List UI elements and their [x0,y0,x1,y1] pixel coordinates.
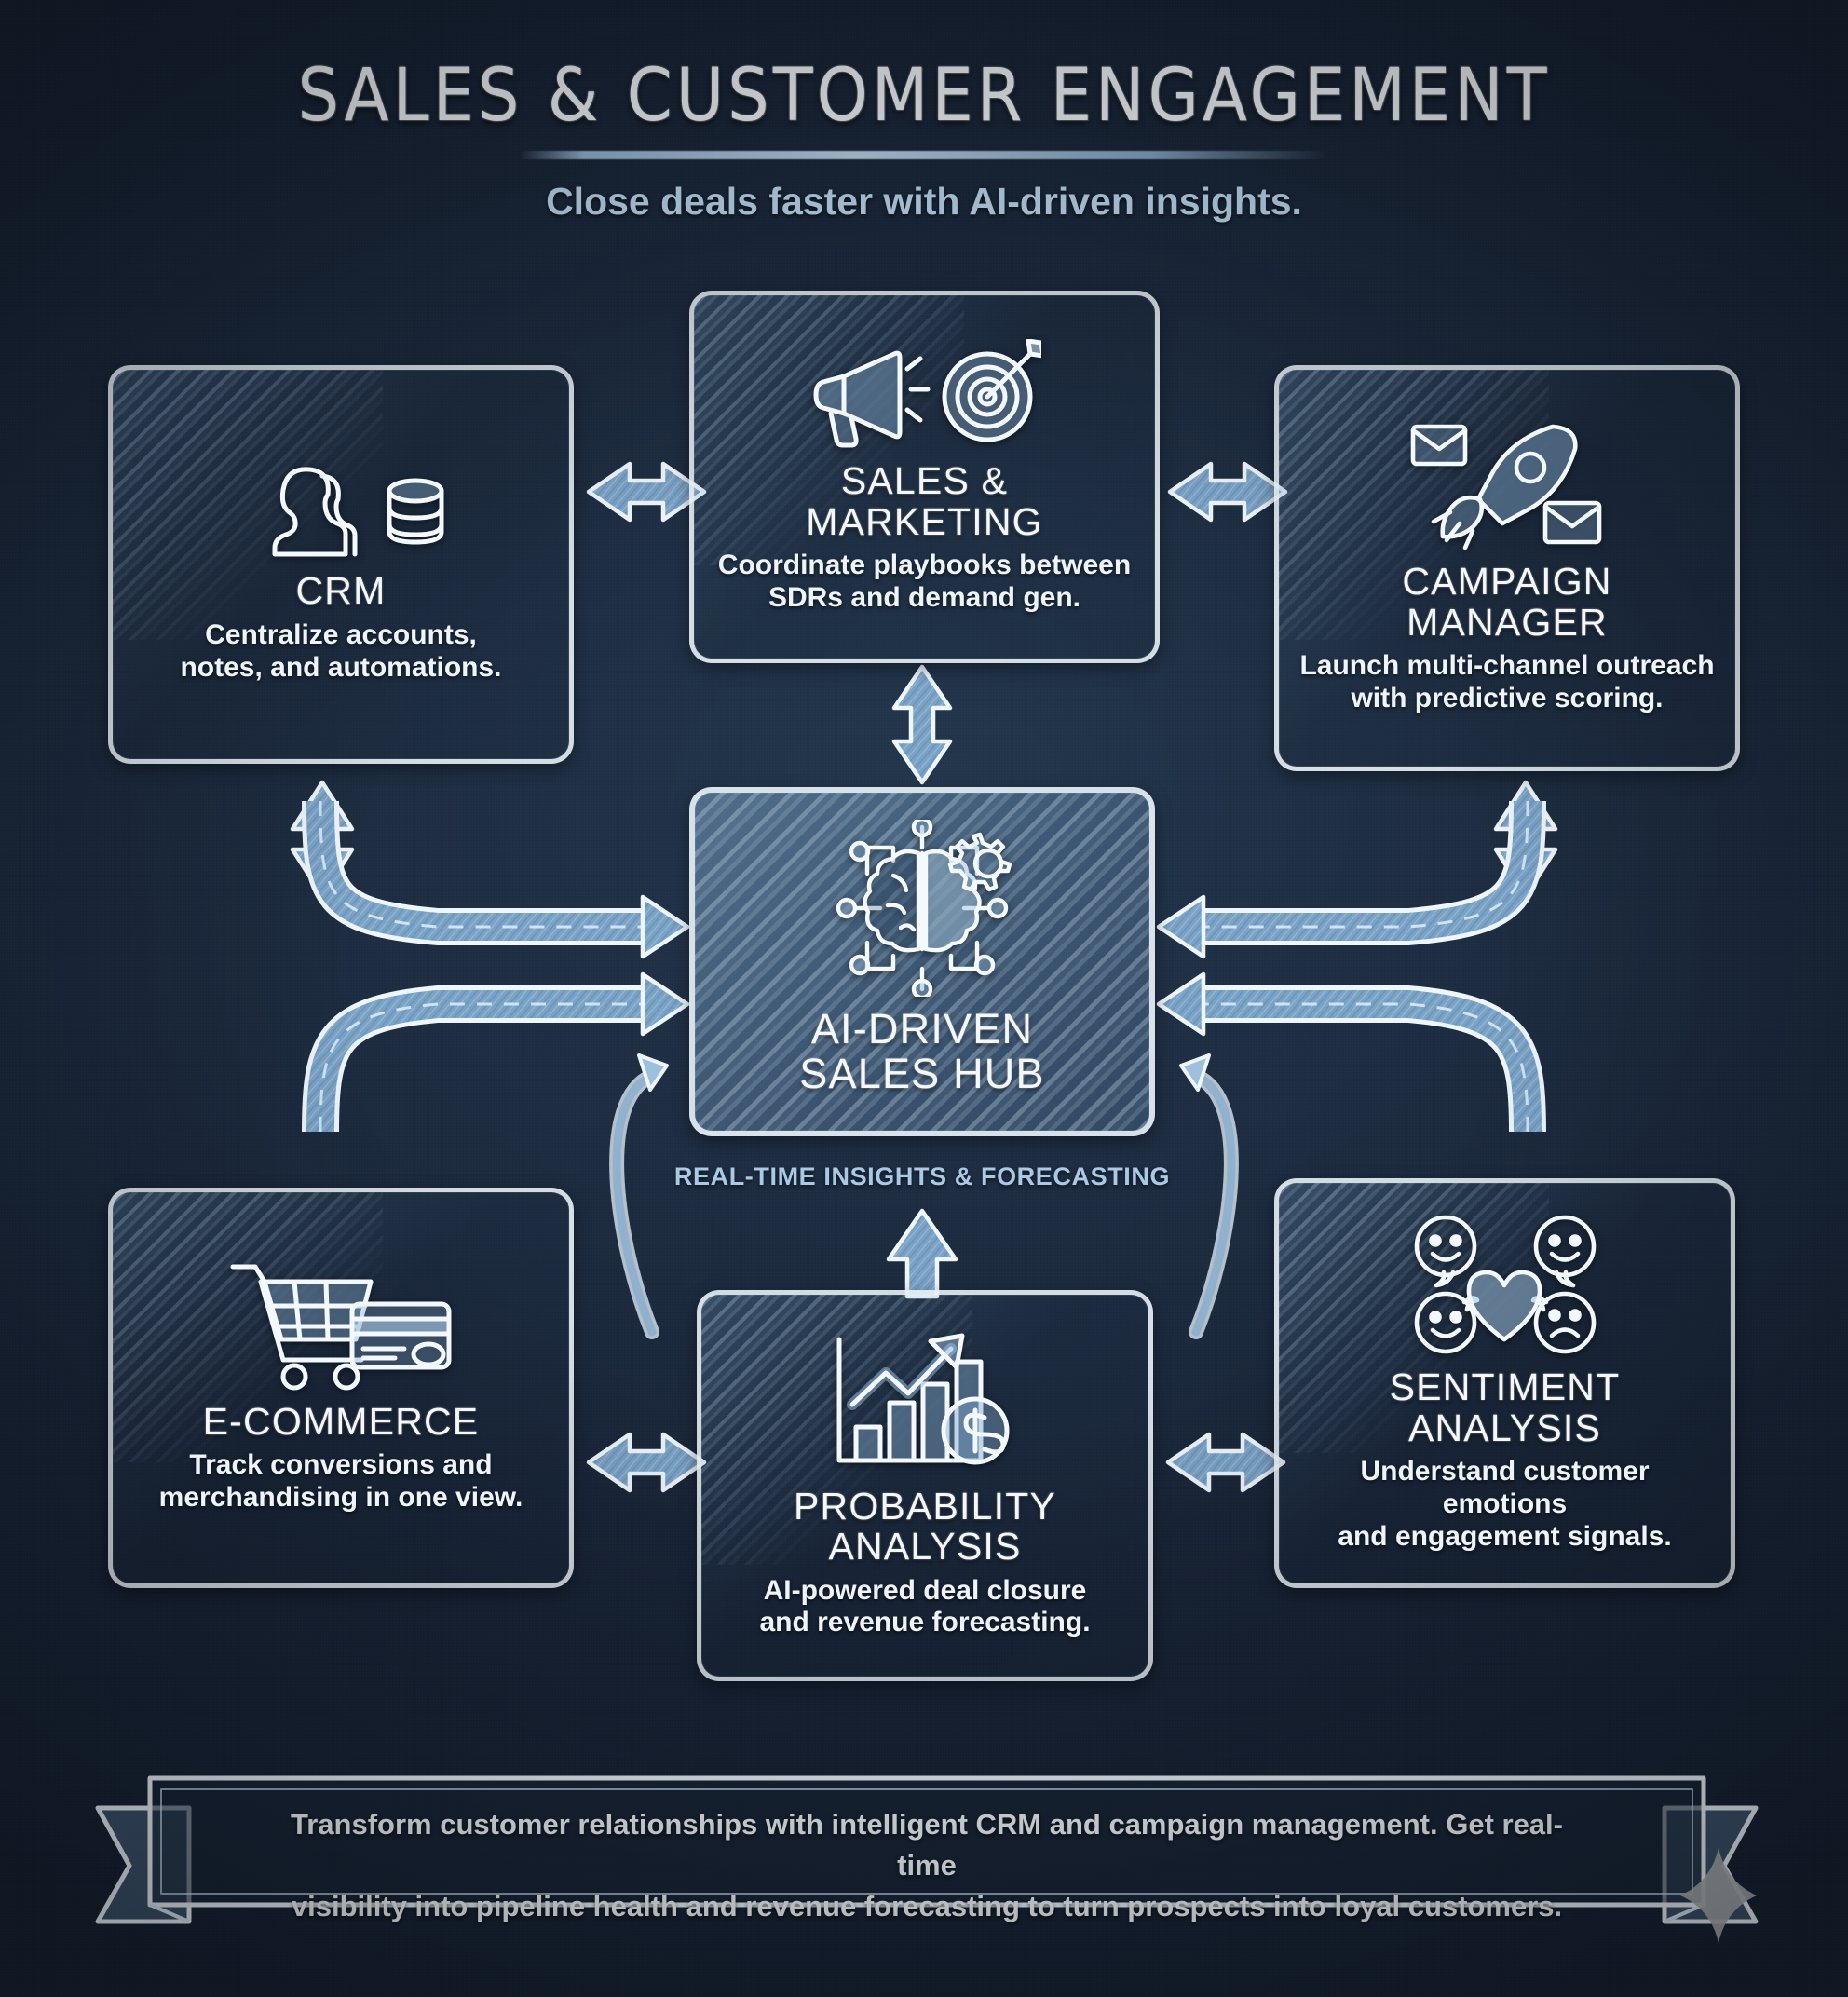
card-ai-driven-sales-hub[interactable]: AI-DRIVEN SALES HUB [689,787,1155,1136]
card-e-commerce[interactable]: E-COMMERCE Track conversions and merchan… [108,1188,574,1588]
card-description: AI-powered deal closure and revenue fore… [759,1575,1090,1640]
emoji-faces-heart-icon [1405,1213,1605,1362]
card-sales-marketing[interactable]: SALES & MARKETING Coordinate playbooks b… [689,291,1160,663]
card-title: SALES & MARKETING [806,461,1043,542]
card-description: Launch multi-channel outreach with predi… [1299,650,1714,715]
card-title: PROBABILITY ANALYSIS [794,1487,1056,1568]
card-campaign-manager[interactable]: CAMPAIGN MANAGER Launch multi-channel ou… [1274,365,1740,771]
card-description: Centralize accounts, notes, and automati… [180,619,501,685]
card-probability-analysis[interactable]: PROBABILITY ANALYSIS AI-powered deal clo… [697,1290,1153,1681]
growth-chart-dollar-icon [832,1332,1018,1481]
brain-circuit-gear-icon [822,820,1023,1001]
card-description: Track conversions and merchandising in o… [159,1449,523,1515]
card-title: CRM [296,571,387,611]
header: SALES & CUSTOMER ENGAGEMENT Close deals … [0,54,1848,224]
profiles-database-icon [234,444,448,565]
title-underline [519,151,1329,159]
page-subtitle: Close deals faster with AI-driven insigh… [0,180,1848,224]
shopping-cart-credit-card-icon [229,1261,453,1396]
hub-caption: REAL-TIME INSIGHTS & FORECASTING [652,1162,1192,1191]
banner-text: Transform customer relationships with in… [275,1804,1579,1927]
card-crm[interactable]: CRM Centralize accounts, notes, and auto… [108,365,574,764]
hub-title: AI-DRIVEN SALES HUB [799,1007,1044,1095]
footer-banner: Transform customer relationships with in… [88,1765,1765,1961]
card-description: Coordinate playbooks between SDRs and de… [718,550,1131,615]
card-title: E-COMMERCE [203,1402,480,1442]
card-sentiment-analysis[interactable]: SENTIMENT ANALYSIS Understand customer e… [1274,1178,1735,1588]
sparkle-icon [1677,1844,1760,1951]
card-description: Understand customer emotions and engagem… [1296,1456,1714,1553]
megaphone-target-icon [808,339,1041,455]
page-title: SALES & CUSTOMER ENGAGEMENT [0,54,1848,138]
card-title: SENTIMENT ANALYSIS [1390,1367,1621,1448]
rocket-envelopes-icon [1407,421,1608,556]
card-title: CAMPAIGN MANAGER [1402,562,1611,643]
